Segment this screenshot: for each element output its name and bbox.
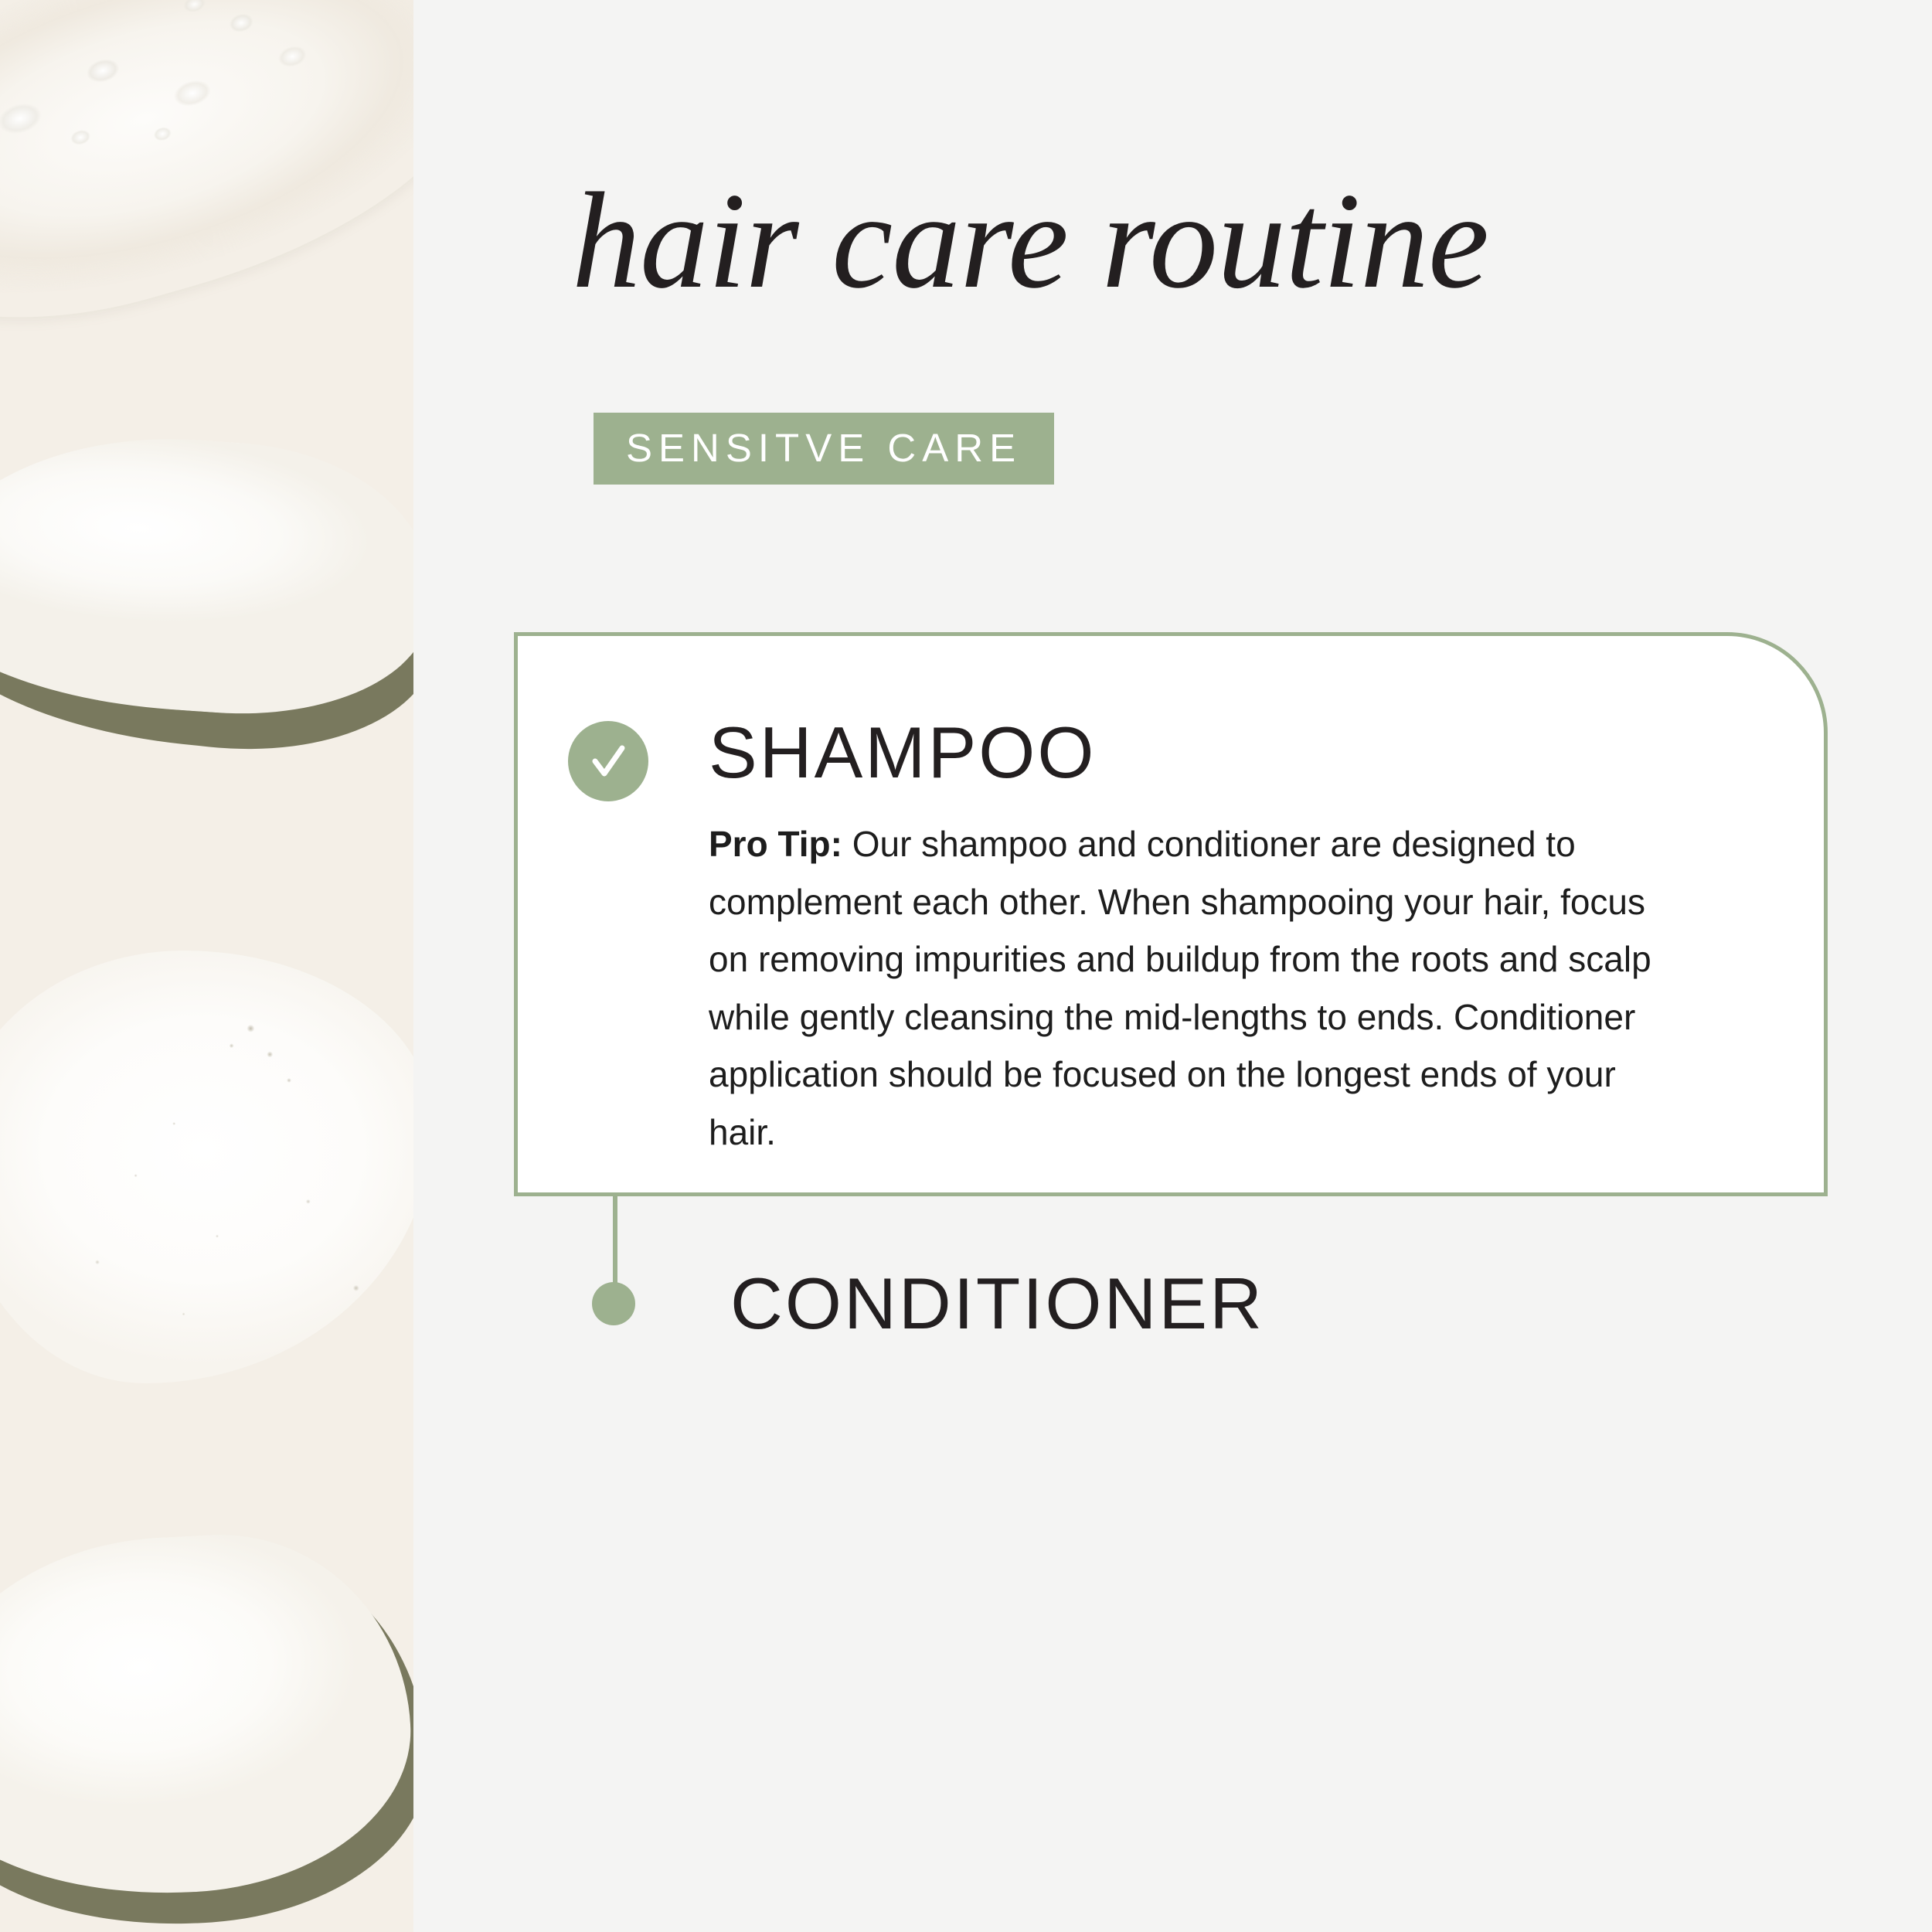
dot-icon: [592, 1282, 635, 1325]
texture-image-strip: [0, 0, 413, 1932]
step-card-shampoo[interactable]: SHAMPOO Pro Tip: Our shampoo and conditi…: [514, 632, 1828, 1196]
gel-texture-swatch: [0, 0, 413, 378]
status-badge: SENSITVE CARE: [594, 413, 1054, 485]
content-column: hair care routine SENSITVE CARE SHAMPOO …: [413, 0, 1932, 1932]
poster-canvas: hair care routine SENSITVE CARE SHAMPOO …: [0, 0, 1932, 1932]
foam-texture-swatch: [0, 951, 413, 1383]
page-title: hair care routine: [572, 172, 1886, 309]
step-title-shampoo: SHAMPOO: [709, 716, 1686, 789]
cream-texture-swatch-upper: [0, 433, 413, 765]
step-title-conditioner: CONDITIONER: [730, 1267, 1264, 1340]
step-header: SHAMPOO Pro Tip: Our shampoo and conditi…: [568, 721, 1686, 1161]
step-body-shampoo: Pro Tip: Our shampoo and conditioner are…: [709, 815, 1686, 1161]
cream-texture-swatch-lower: [0, 1515, 413, 1932]
swatch-body: [0, 433, 413, 727]
pro-tip-lead: Pro Tip:: [709, 824, 842, 864]
pro-tip-text: Our shampoo and conditioner are designed…: [709, 824, 1651, 1152]
step-text-block: SHAMPOO Pro Tip: Our shampoo and conditi…: [709, 716, 1686, 1161]
step-item-conditioner[interactable]: CONDITIONER: [514, 1267, 1264, 1340]
check-icon: [568, 721, 648, 801]
